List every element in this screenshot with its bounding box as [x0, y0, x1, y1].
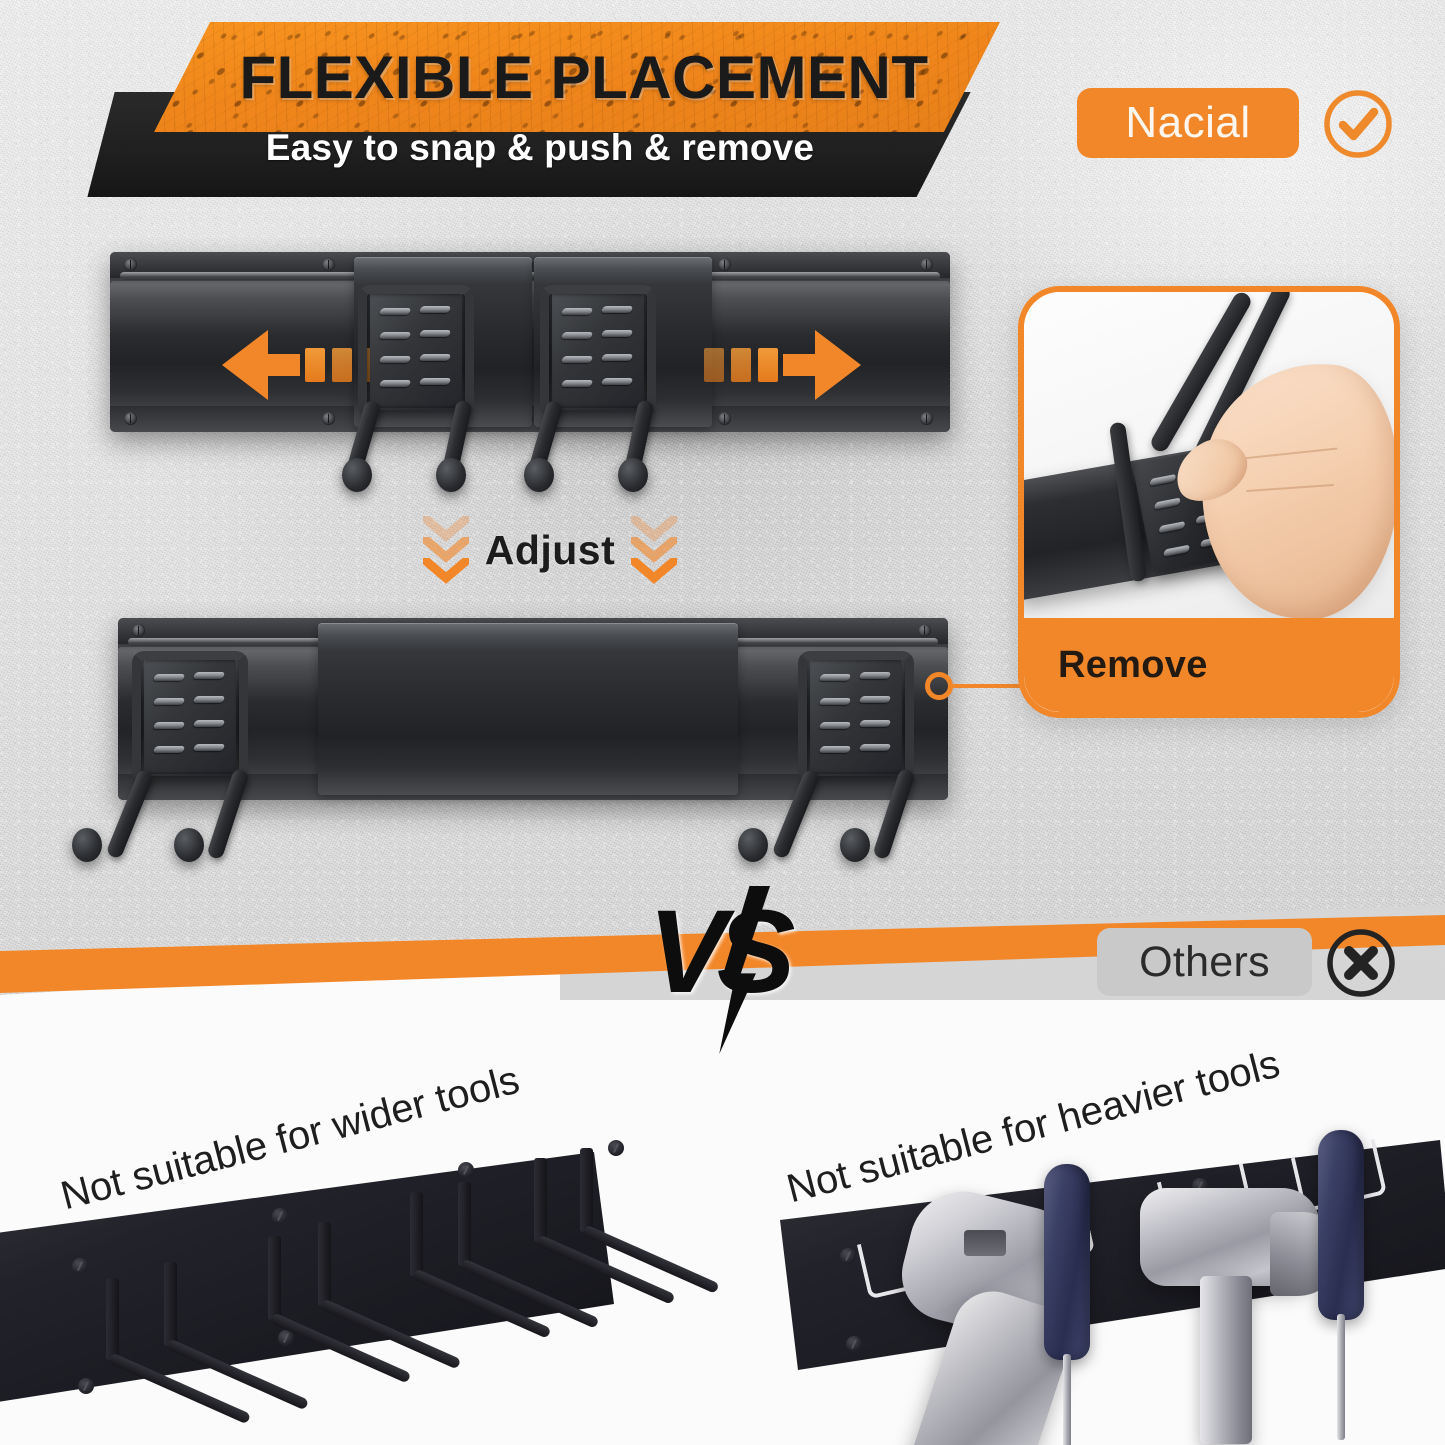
hook-assembly: [534, 282, 662, 482]
thin-hook: [164, 1262, 177, 1346]
rail-screw: [124, 258, 137, 271]
rail-screw: [718, 258, 731, 271]
hammer-shaft: [1200, 1276, 1252, 1444]
hook-prong-tip: [436, 458, 466, 492]
thin-hook: [580, 1148, 593, 1232]
rail-screw: [920, 412, 933, 425]
others-label: Others: [1139, 938, 1270, 987]
hook-rib: [1154, 498, 1181, 510]
header-banner: FLEXIBLE PLACEMENT Easy to snap & push &…: [0, 0, 1060, 210]
panel-screw: [458, 1162, 474, 1178]
arrow-right-icon: [704, 328, 861, 402]
rail-screw: [920, 258, 933, 271]
panel-screw: [846, 1336, 862, 1352]
hook-frame: [798, 651, 914, 783]
vs-label: VS: [648, 884, 785, 1020]
vs-badge: VS: [648, 884, 868, 1054]
hook-rib: [1158, 521, 1185, 533]
screwdriver-shaft: [1337, 1314, 1345, 1440]
check-circle-icon: [1320, 86, 1396, 162]
panel-screw: [840, 1248, 856, 1264]
remove-label-band: Remove: [1024, 618, 1394, 712]
hook-prong-tip: [738, 828, 768, 862]
hook-assembly: [792, 648, 920, 848]
brand-label: Nacial: [1125, 98, 1250, 148]
thin-hook: [268, 1236, 281, 1320]
rail-screw: [718, 412, 731, 425]
arrow-dash: [704, 348, 724, 382]
adjust-indicator: Adjust: [395, 505, 705, 595]
chevron-down-icon: [423, 516, 469, 584]
thin-hook: [106, 1278, 119, 1360]
x-circle-icon: [1323, 925, 1399, 1001]
remove-inset-panel: Remove: [1018, 286, 1400, 718]
callout-line: [949, 684, 1021, 688]
hook-prong-tip: [524, 458, 554, 492]
brand-badge: Nacial: [1077, 88, 1299, 158]
chevron-down-icon: [631, 516, 677, 584]
thin-hook: [458, 1182, 471, 1266]
hook-prong-tip: [72, 828, 102, 862]
screwdriver-handle: [1318, 1130, 1364, 1320]
hook-assembly: [126, 648, 254, 848]
hook-rib: [1163, 545, 1190, 557]
adjust-label: Adjust: [485, 527, 616, 574]
finger-crease: [1240, 448, 1338, 460]
thin-hook: [410, 1192, 423, 1276]
panel-screw: [72, 1258, 88, 1274]
hook-prong-tip: [840, 828, 870, 862]
others-badge: Others: [1097, 928, 1312, 996]
thin-hook: [318, 1222, 331, 1306]
hook-assembly: [352, 282, 480, 482]
panel-screw: [272, 1208, 288, 1224]
page-title: FLEXIBLE PLACEMENT: [196, 34, 972, 120]
hook-prong-tip: [618, 458, 648, 492]
arrow-dash: [332, 348, 352, 382]
pliers-notch: [964, 1230, 1006, 1256]
hook-rib: [1149, 474, 1176, 486]
hook-prong-tip: [174, 828, 204, 862]
rail-screw: [322, 258, 335, 271]
rail-screw: [132, 624, 145, 637]
screwdriver-shaft: [1063, 1354, 1071, 1445]
screwdriver-handle: [1044, 1164, 1090, 1360]
rail-screw: [124, 412, 137, 425]
finger-crease: [1246, 484, 1334, 492]
rail-segment: [318, 623, 738, 794]
panel-screw: [608, 1140, 624, 1156]
hook-frame: [358, 285, 474, 417]
remove-label: Remove: [1058, 644, 1208, 687]
hook-prong-tip: [342, 458, 372, 492]
hook-frame: [540, 285, 656, 417]
page-subtitle: Easy to snap & push & remove: [160, 118, 920, 178]
arrow-dash: [305, 348, 325, 382]
arrow-dash: [731, 348, 751, 382]
panel-screw: [78, 1378, 94, 1394]
arrow-dash: [758, 348, 778, 382]
rail-screw: [918, 624, 931, 637]
rail-screw: [322, 412, 335, 425]
infographic-canvas: FLEXIBLE PLACEMENT Easy to snap & push &…: [0, 0, 1445, 1445]
thin-hook: [534, 1158, 547, 1242]
remove-photo: [1024, 292, 1394, 637]
hook-frame: [132, 651, 248, 783]
